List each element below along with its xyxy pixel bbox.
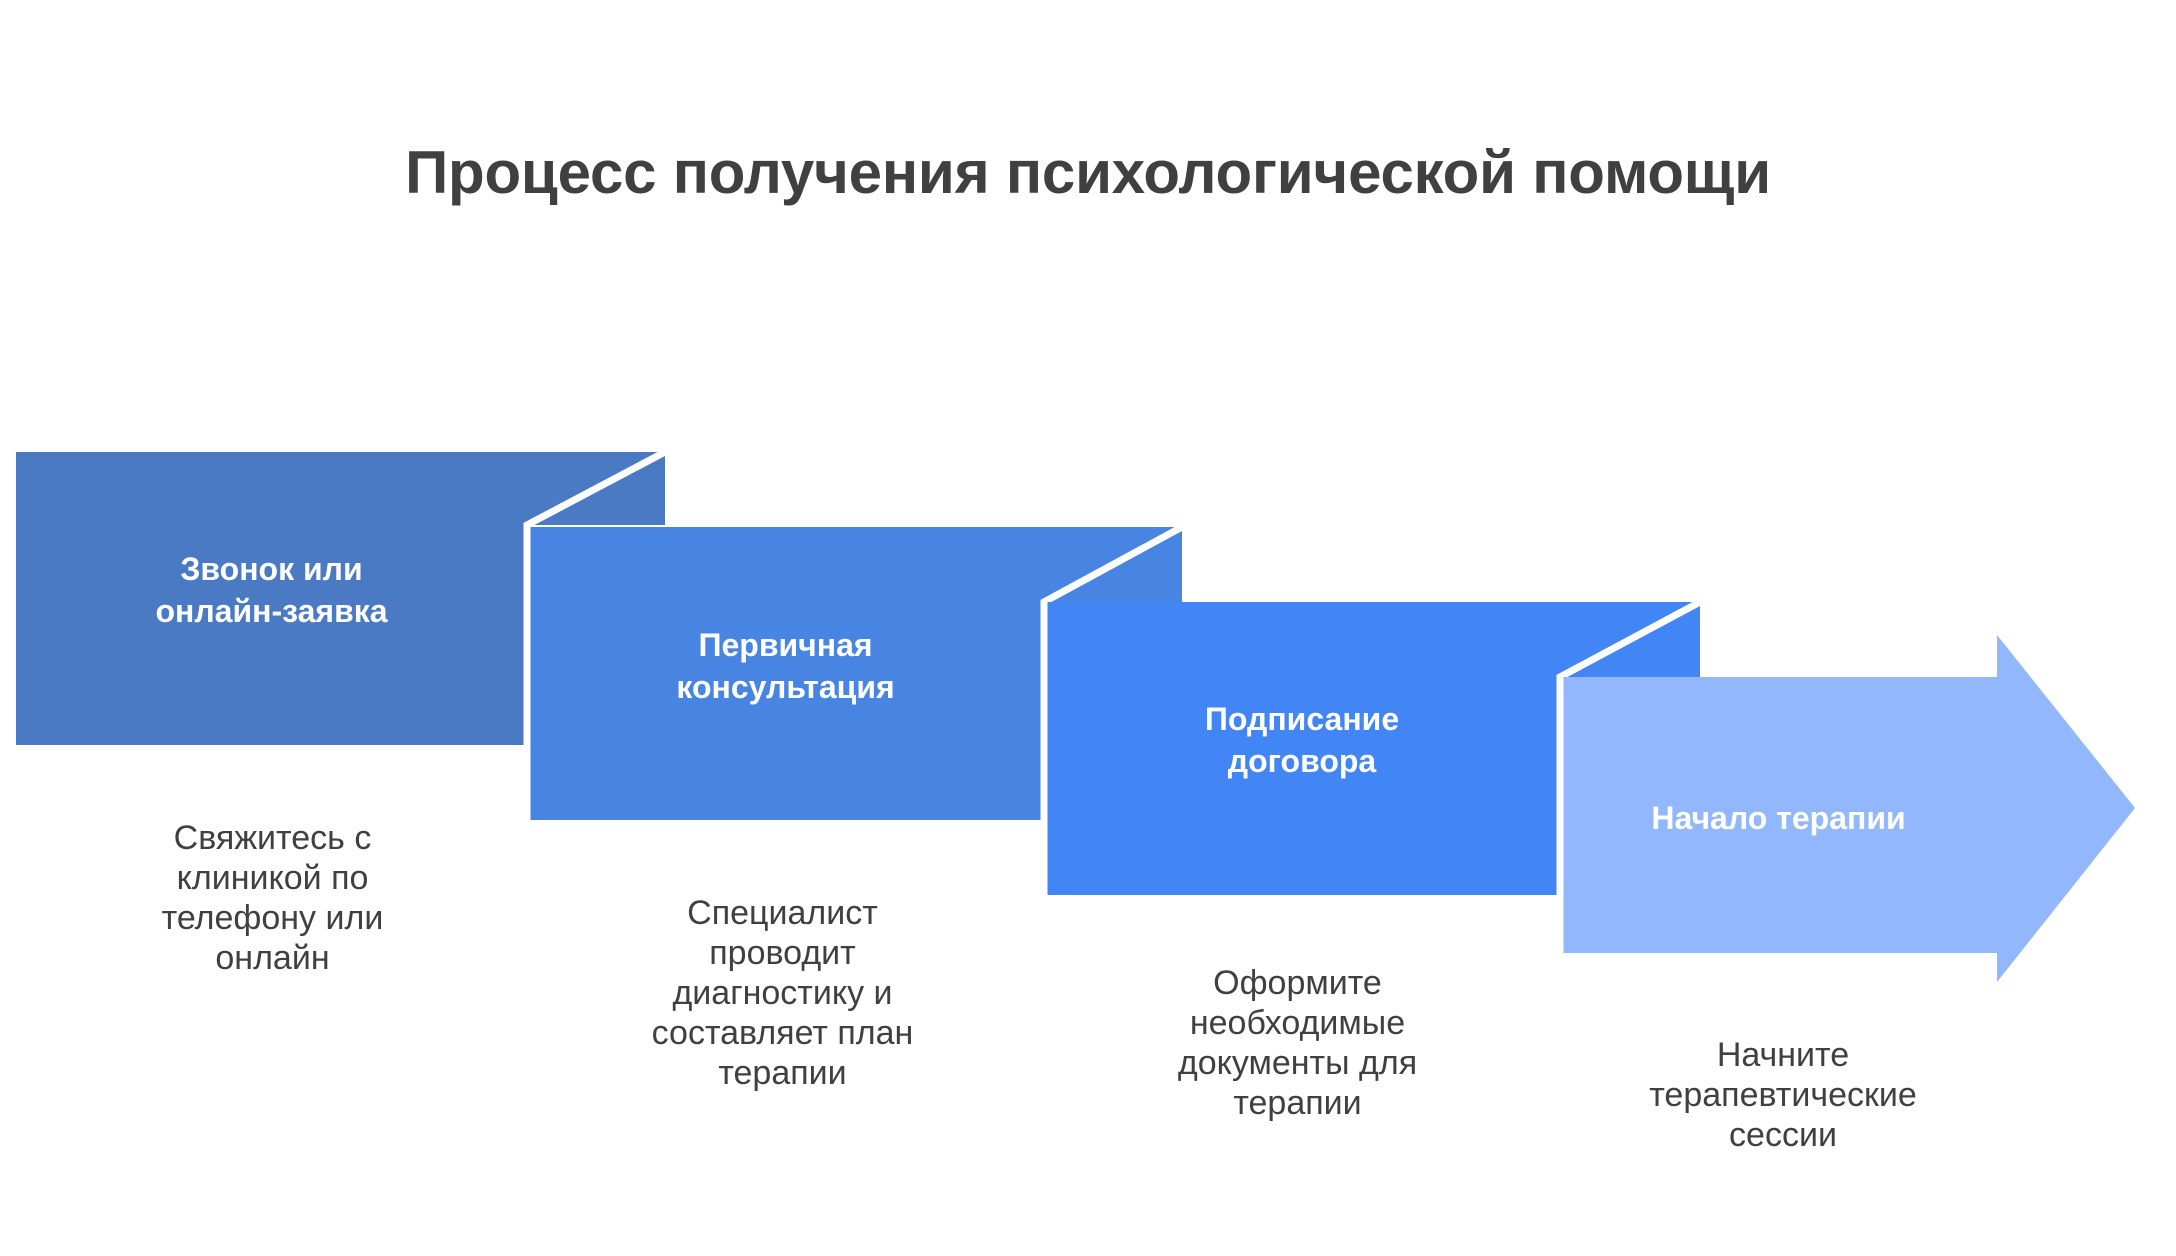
step-label-4: Начало терапии: [1560, 797, 1997, 839]
step-caption-1: Свяжитесь с клиникой по телефону или онл…: [40, 818, 505, 978]
page-title: Процесс получения психологической помощи: [0, 138, 2176, 207]
step-3-fold-flap: [1560, 602, 1700, 677]
step-3-fold-crease: [1560, 602, 1700, 895]
step-caption-2: Специалист проводит диагностику и состав…: [550, 893, 1015, 1094]
slide-canvas: Процесс получения психологической помощи: [0, 0, 2176, 1256]
step-caption-3: Оформите необходимые документы для терап…: [1065, 963, 1530, 1123]
step-label-3: Подписание договора: [1044, 698, 1560, 782]
step-caption-4: Начните терапевтические сессии: [1568, 1035, 1998, 1155]
step-1-fold-flap: [527, 452, 665, 525]
step-label-1: Звонок или онлайн-заявка: [16, 548, 527, 632]
step-label-2: Первичная консультация: [527, 624, 1044, 708]
step-2-fold-flap: [1044, 527, 1182, 602]
